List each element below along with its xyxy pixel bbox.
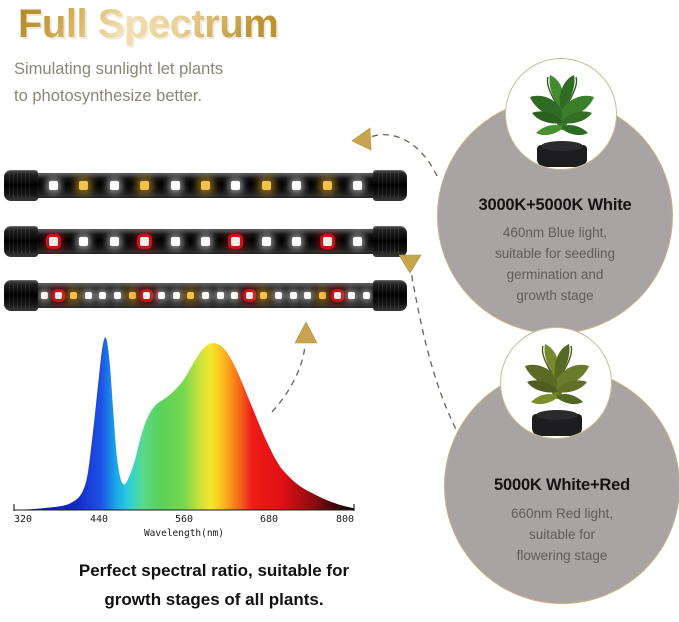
led-r-8 (143, 292, 150, 299)
led-y-3 (70, 292, 77, 299)
led-w-6 (114, 292, 121, 299)
led-w-1 (49, 181, 58, 190)
led-r-10 (323, 237, 332, 246)
led-w-5 (171, 237, 180, 246)
led-w-5 (99, 292, 106, 299)
led-w-9 (158, 292, 165, 299)
x-tick-440: 440 (90, 514, 108, 525)
caption-line-2: growth stages of all plants. (18, 585, 410, 614)
led-y-4 (140, 181, 149, 190)
led-y-11 (187, 292, 194, 299)
x-tick-680: 680 (260, 514, 278, 525)
callout-1-plant-photo (505, 58, 617, 170)
callout-1-title: 3000K+5000K White (437, 196, 673, 215)
led-bar-1-leds (32, 173, 379, 198)
led-w-5 (171, 181, 180, 190)
callout-2-body-line-2: suitable for (444, 524, 679, 545)
x-axis-title: Wavelength(nm) (144, 528, 224, 539)
led-bar-2-leds (32, 229, 379, 254)
callout-2-title: 5000K White+Red (444, 476, 679, 495)
plant-icon (506, 59, 617, 170)
led-bar-2 (4, 226, 407, 257)
led-bar-3-cap-left (4, 280, 38, 311)
callout-1-body-line-3: germination and (437, 264, 673, 285)
led-w-2 (79, 237, 88, 246)
led-bar-1 (4, 170, 407, 201)
callout-1-body-line-4: growth stage (437, 285, 673, 306)
callout-2-body-line-1: 660nm Red light, (444, 503, 679, 524)
led-w-3 (110, 181, 119, 190)
led-w-3 (110, 237, 119, 246)
plant-icon (501, 328, 612, 439)
led-w-12 (202, 292, 209, 299)
subtitle-line-1: Simulating sunlight let plants (14, 56, 344, 83)
led-w-14 (231, 292, 238, 299)
led-w-22 (348, 292, 355, 299)
led-w-4 (85, 292, 92, 299)
led-r-15 (246, 292, 253, 299)
led-y-8 (262, 181, 271, 190)
led-w-17 (275, 292, 282, 299)
led-y-20 (319, 292, 326, 299)
bottom-caption: Perfect spectral ratio, suitable for gro… (18, 556, 410, 614)
callout-2-plant-photo (500, 327, 612, 439)
led-y-10 (323, 181, 332, 190)
arrow-to-bar2-head (399, 255, 421, 273)
led-bar-2-cap-left (4, 226, 38, 257)
page-subtitle: Simulating sunlight let plants to photos… (14, 56, 344, 110)
led-w-11 (353, 181, 362, 190)
led-w-19 (304, 292, 311, 299)
arrow-to-bar1-head (352, 128, 371, 150)
led-y-7 (129, 292, 136, 299)
led-w-18 (290, 292, 297, 299)
caption-line-1: Perfect spectral ratio, suitable for (18, 556, 410, 585)
led-bar-2-tube (32, 229, 379, 254)
led-w-9 (292, 237, 301, 246)
led-w-23 (363, 292, 370, 299)
led-w-13 (217, 292, 224, 299)
led-bar-3-leds (32, 283, 379, 308)
subtitle-line-2: to photosynthesize better. (14, 83, 344, 110)
led-w-7 (231, 181, 240, 190)
led-w-1 (41, 292, 48, 299)
page-title: Full Spectrum (18, 2, 278, 47)
x-tick-560: 560 (175, 514, 193, 525)
led-y-16 (260, 292, 267, 299)
led-bar-1-cap-right (373, 170, 407, 201)
led-bar-3-tube (32, 283, 379, 308)
led-r-4 (140, 237, 149, 246)
led-y-2 (79, 181, 88, 190)
callout-2-body-line-3: flowering stage (444, 545, 679, 566)
callout-1-body-line-2: suitable for seedling (437, 243, 673, 264)
led-w-11 (353, 237, 362, 246)
led-r-21 (334, 292, 341, 299)
callout-1-body-line-1: 460nm Blue light, (437, 222, 673, 243)
led-bar-1-tube (32, 173, 379, 198)
led-bar-3 (4, 280, 407, 311)
led-r-1 (49, 237, 58, 246)
led-r-7 (231, 237, 240, 246)
led-w-8 (262, 237, 271, 246)
x-axis-tick-labels: 320440560680800 (14, 514, 354, 525)
x-tick-800: 800 (336, 514, 354, 525)
led-w-10 (173, 292, 180, 299)
led-r-2 (55, 292, 62, 299)
led-w-6 (201, 237, 210, 246)
led-w-9 (292, 181, 301, 190)
led-bar-1-cap-left (4, 170, 38, 201)
infographic-canvas: Full Spectrum Full Spectrum Simulating s… (0, 0, 679, 622)
x-tick-320: 320 (14, 514, 32, 525)
led-bar-3-cap-right (373, 280, 407, 311)
spectrum-area (14, 337, 354, 510)
spectrum-chart-svg: 320440560680800 Wavelength(nm) (8, 330, 360, 542)
callout-2-body: 660nm Red light, suitable for flowering … (444, 503, 679, 566)
led-bar-2-cap-right (373, 226, 407, 257)
spectrum-chart: 320440560680800 Wavelength(nm) (8, 330, 360, 542)
led-y-6 (201, 181, 210, 190)
callout-1-body: 460nm Blue light, suitable for seedling … (437, 222, 673, 306)
